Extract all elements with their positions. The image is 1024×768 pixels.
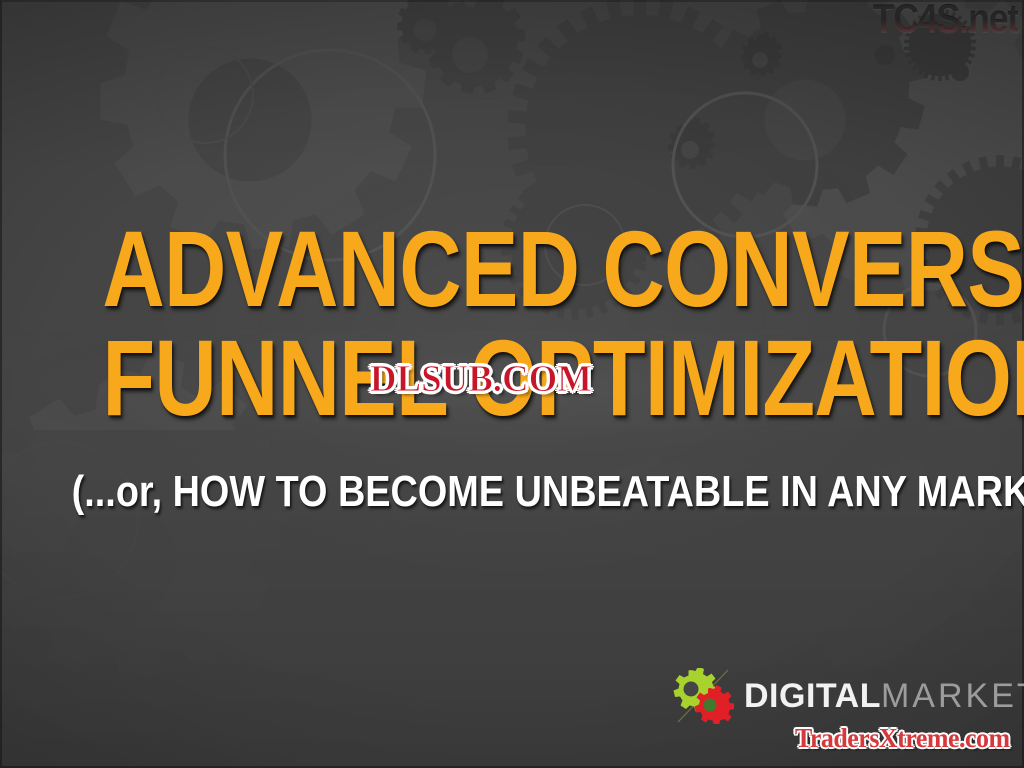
logo-word-digital: DIGITAL <box>744 677 881 715</box>
logo-word-marketer: MARKETER <box>881 677 1024 715</box>
digitalmarketer-logo: DIGITALMARKETER <box>666 668 1016 724</box>
slide-canvas: ADVANCED CONVERSION FUNNEL OPTIMIZATION … <box>0 0 1024 768</box>
page-subtitle: (...or, HOW TO BECOME UNBEATABLE IN ANY … <box>72 470 953 514</box>
logo-gears-icon <box>666 668 742 724</box>
watermark-dlsub: DLSUB.COM <box>366 358 596 401</box>
watermark-tc4s: TC4S.net <box>872 0 1018 40</box>
page-title-line-1: ADVANCED CONVERSION <box>102 218 921 321</box>
logo-wordmark: DIGITALMARKETER <box>744 679 1024 713</box>
watermark-tradersxtreme: TradersXtreme.com <box>795 725 1010 752</box>
